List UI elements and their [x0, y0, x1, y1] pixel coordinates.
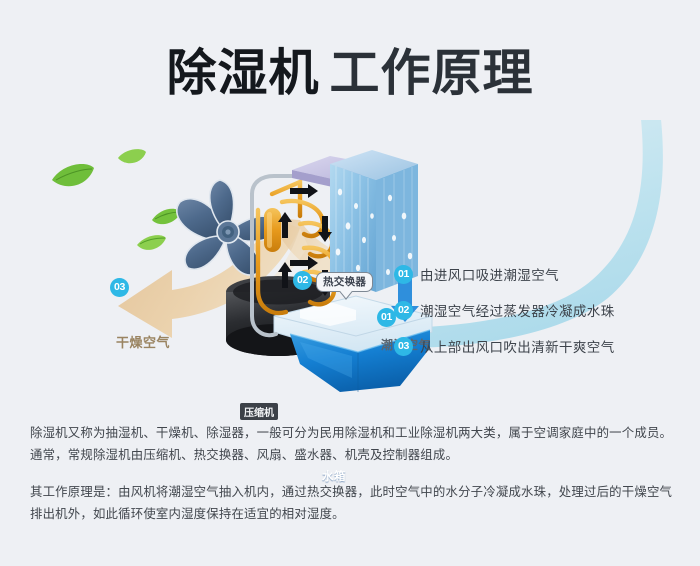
page-title-part1: 除湿机	[167, 44, 320, 102]
legend-text-02: 潮湿空气经过蒸发器冷凝成水珠	[420, 300, 615, 320]
paragraph-definition: 除湿机又称为抽湿机、干燥机、除湿器，一般可分为民用除湿机和工业除湿机两大类，属于…	[30, 422, 675, 466]
badge-heat-exchanger: 02	[293, 271, 312, 290]
body-copy: 除湿机又称为抽湿机、干燥机、除湿器，一般可分为民用除湿机和工业除湿机两大类，属于…	[30, 422, 675, 525]
legend-item-01: 01 由进风口吸进潮湿空气	[394, 256, 694, 292]
accumulator-cylinder	[264, 208, 281, 252]
legend-badge-02: 02	[394, 301, 413, 320]
page-title: 除湿机工作原理	[0, 33, 700, 105]
label-compressor: 压缩机	[240, 403, 278, 420]
legend-text-01: 由进风口吸进潮湿空气	[420, 264, 559, 284]
legend-badge-01: 01	[394, 265, 413, 284]
legend-item-02: 02 潮湿空气经过蒸发器冷凝成水珠	[394, 292, 694, 328]
legend-text-03: 从上部出风口吹出清新干爽空气	[420, 336, 615, 356]
legend-item-03: 03 从上部出风口吹出清新干爽空气	[394, 328, 694, 364]
paragraph-principle: 其工作原理是：由风机将潮湿空气抽入机内，通过热交换器，此时空气中的水分子冷凝成水…	[30, 481, 675, 525]
legend-badge-03: 03	[394, 337, 413, 356]
badge-dry-air: 03	[110, 278, 129, 297]
infographic-page: 除湿机工作原理	[0, 0, 700, 566]
label-heat-exchanger: 热交换器	[316, 272, 373, 292]
legend-list: 01 由进风口吸进潮湿空气 02 潮湿空气经过蒸发器冷凝成水珠 03 从上部出风…	[394, 256, 694, 364]
leaf-decorations	[52, 149, 181, 250]
label-dry-air: 干燥空气	[116, 332, 170, 351]
page-title-part2: 工作原理	[330, 44, 534, 102]
